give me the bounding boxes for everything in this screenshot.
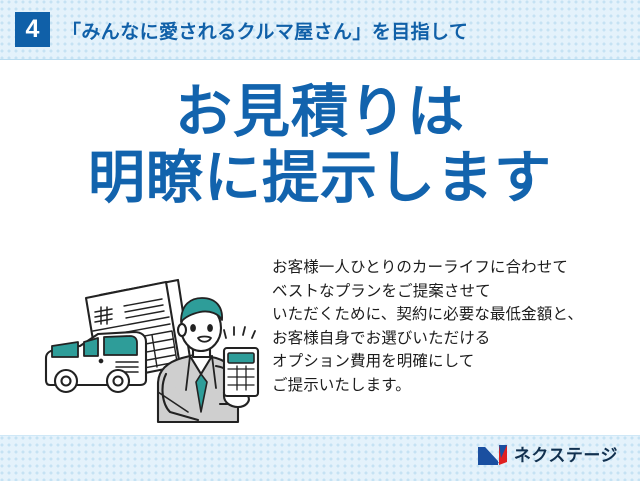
body-line-4: お客様自身でお選びいただける xyxy=(272,327,632,351)
body-copy: お客様一人ひとりのカーライフに合わせて ベストなプランをご提案させて いただくた… xyxy=(272,256,632,397)
nextage-n-mark-icon xyxy=(477,444,509,466)
body-line-6: ご提示いたします。 xyxy=(272,374,632,398)
body-line-3: いただくために、契約に必要な最低金額と、 xyxy=(272,303,632,327)
calculator-icon xyxy=(224,348,258,396)
section-number-badge: 4 xyxy=(15,12,50,47)
illustration-svg xyxy=(38,262,268,427)
brand-name: ネクステージ xyxy=(514,447,618,464)
headline-line-1: お見積りは xyxy=(0,82,640,142)
brand-logo: ネクステージ xyxy=(477,444,618,466)
headline-line-2: 明瞭に提示します xyxy=(0,148,640,208)
headline: お見積りは 明瞭に提示します xyxy=(0,82,640,209)
body-line-1: お客様一人ひとりのカーライフに合わせて xyxy=(272,256,632,280)
body-line-2: ベストなプランをご提案させて xyxy=(272,280,632,304)
illustration-salesman-quote-van xyxy=(38,262,268,427)
sparkle-icon xyxy=(224,327,255,338)
slide: 4 「みんなに愛されるクルマ屋さん」を目指して お見積りは 明瞭に提示します お… xyxy=(0,0,640,480)
body-line-5: オプション費用を明確にして xyxy=(272,350,632,374)
van-illustration xyxy=(46,332,146,392)
page-title: 「みんなに愛されるクルマ屋さん」を目指して xyxy=(62,17,468,44)
